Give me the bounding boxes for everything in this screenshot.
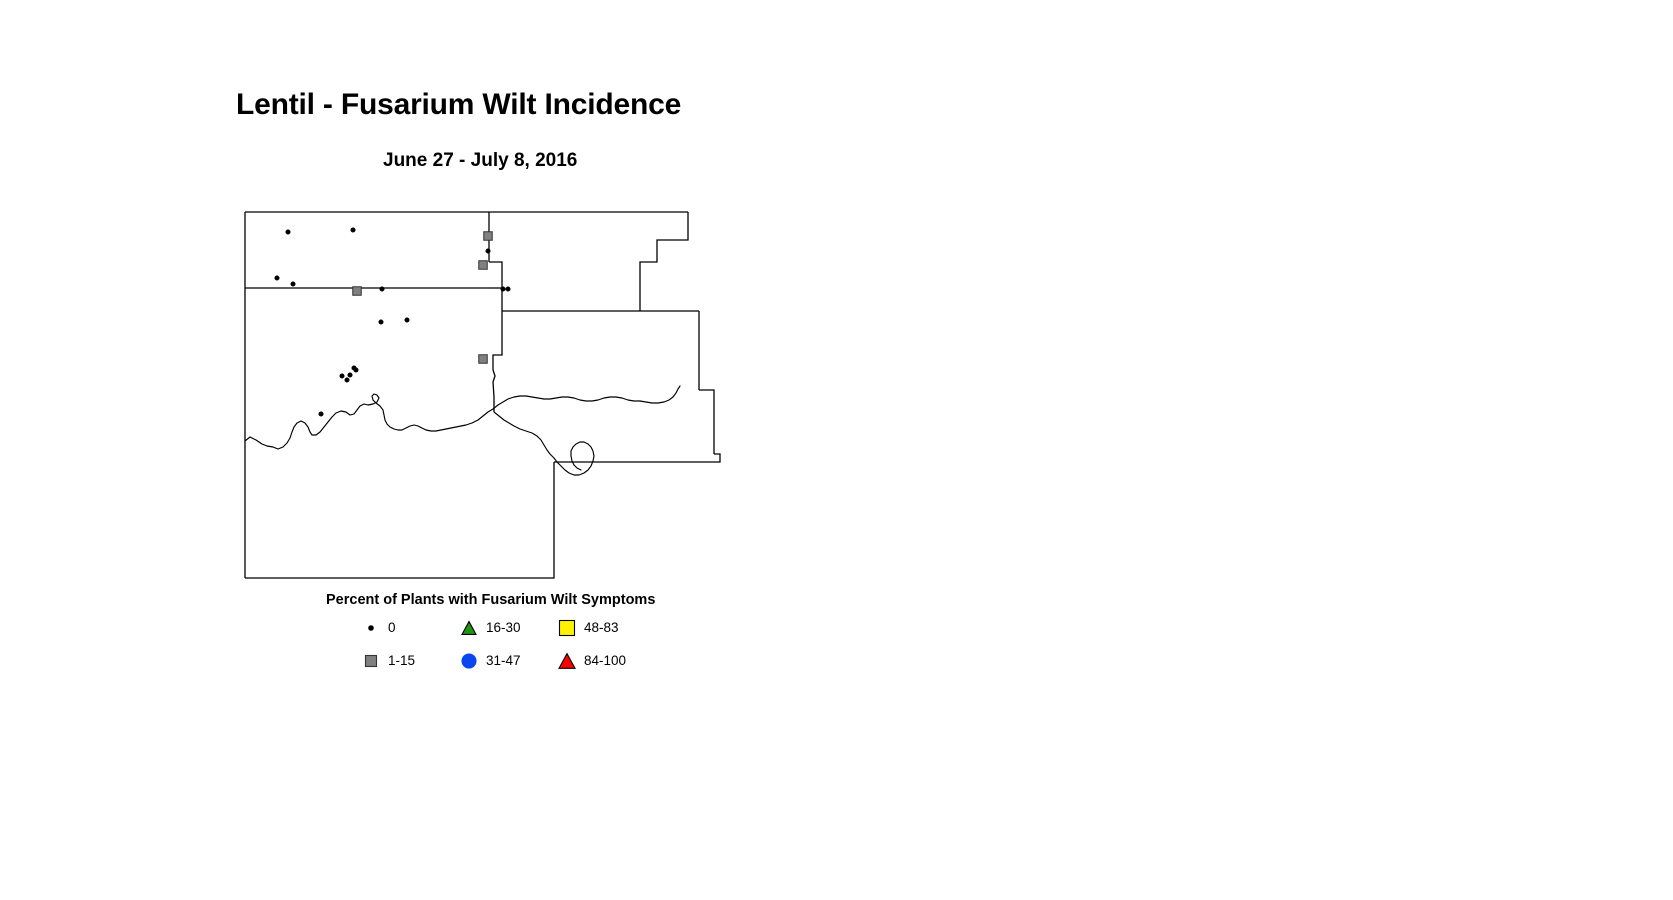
data-point-1-15 [484, 232, 493, 241]
figure-root: Lentil - Fusarium Wilt Incidence June 27… [0, 0, 1673, 900]
data-point-0 [348, 373, 352, 377]
legend-label: 0 [388, 620, 396, 635]
data-point-0 [319, 412, 323, 416]
river-path-southeast-bend [494, 412, 557, 462]
river-path-far-east [640, 386, 680, 403]
boundary-east-step-b [554, 454, 720, 462]
boundary-east-step-a [699, 390, 714, 454]
legend-label: 16-30 [486, 620, 521, 635]
boundary-center-vertical [493, 288, 502, 370]
page-title: Lentil - Fusarium Wilt Incidence [236, 88, 681, 122]
legend-label: 84-100 [584, 653, 626, 668]
legend-title: Percent of Plants with Fusarium Wilt Sym… [326, 592, 655, 608]
data-point-0 [345, 378, 349, 382]
county-map [236, 200, 756, 600]
data-point-layer [275, 228, 510, 416]
data-point-0 [352, 366, 356, 370]
data-point-0 [340, 374, 344, 378]
data-point-0 [501, 287, 505, 291]
data-point-0 [379, 320, 383, 324]
boundary-nw-ne-divider-lower [489, 262, 502, 288]
boundary-northeast-step [640, 212, 688, 311]
river-path-east [493, 396, 640, 409]
legend-symbol-circle-icon [360, 618, 382, 638]
data-point-1-15 [479, 261, 488, 270]
legend-symbol-triangle-icon [556, 651, 578, 671]
legend-symbol-triangle-icon [458, 618, 480, 638]
map-plot-area [236, 200, 756, 600]
boundary-east-step-c [245, 462, 554, 578]
river-path-central [368, 394, 493, 431]
data-point-1-15 [479, 355, 488, 364]
legend-label: 1-15 [388, 653, 415, 668]
legend-symbol-square-icon [360, 651, 382, 671]
legend-label: 31-47 [486, 653, 521, 668]
data-point-0 [351, 228, 355, 232]
legend-symbol-circle-icon [458, 651, 480, 671]
boundary-center-vertical-b [493, 370, 495, 412]
river-path-west [245, 404, 368, 449]
data-point-1-15 [353, 287, 362, 296]
data-point-0 [380, 287, 384, 291]
data-point-0 [486, 249, 490, 253]
legend-label: 48-83 [584, 620, 619, 635]
legend-items: 01-1516-3031-4748-8384-100 [360, 618, 700, 680]
river-path-south-lobe [557, 442, 594, 475]
data-point-0 [506, 287, 510, 291]
data-point-0 [286, 230, 290, 234]
legend-symbol-square-icon [556, 618, 578, 638]
data-point-0 [291, 282, 295, 286]
data-point-0 [405, 318, 409, 322]
figure-subtitle: June 27 - July 8, 2016 [383, 150, 577, 172]
data-point-0 [275, 276, 279, 280]
